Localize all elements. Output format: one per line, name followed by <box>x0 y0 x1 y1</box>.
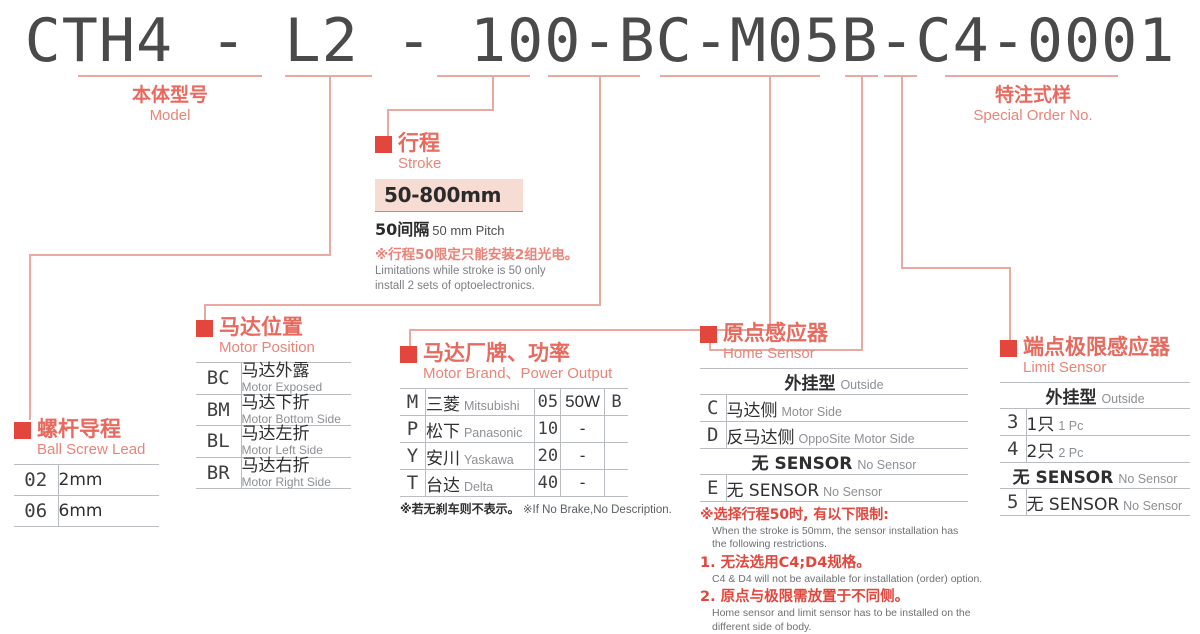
motor-brand-footnote: ※若无刹车则不表示。 ※If No Brake,No Description. <box>400 500 672 517</box>
cell-desc: 2mm <box>58 465 159 496</box>
cell-brake: B <box>604 389 628 416</box>
group-motor-position-cn: 马达位置 <box>219 316 303 338</box>
group-home-sensor: 原点感应器 Home Sensor 外挂型Outside C 马达侧Motor … <box>700 322 1030 634</box>
table-row[interactable]: BR 马达右折 Motor Right Side <box>196 457 351 489</box>
table-row[interactable]: 06 6mm <box>14 496 159 527</box>
group-ball-screw-lead-cn: 螺杆导程 <box>37 418 121 440</box>
table-home-sensor: 外挂型Outside C 马达侧Motor Side D 反马达侧OppoSit… <box>700 368 968 502</box>
cell-code: 3 <box>1000 409 1026 436</box>
cell-code: P <box>400 416 425 443</box>
banner-outside-cn: 外挂型 <box>784 374 835 394</box>
warning-item1-en: C4 & D4 will not be available for instal… <box>712 573 1030 587</box>
cell-desc: 马达左折 Motor Left Side <box>241 426 351 458</box>
group-home-sensor-en: Home Sensor <box>723 345 1030 363</box>
cell-desc: 马达下折 Motor Bottom Side <box>241 394 351 426</box>
cell-code: T <box>400 470 425 497</box>
table-banner-row: 无 SENSORNo Sensor <box>700 449 968 475</box>
cell-code: Y <box>400 443 425 470</box>
table-row[interactable]: BM 马达下折 Motor Bottom Side <box>196 394 351 426</box>
stroke-note-en-2: install 2 sets of optoelectronics. <box>375 279 578 293</box>
cell-power: 50W <box>561 389 605 416</box>
group-ball-screw-lead-en: Ball Screw Lead <box>37 441 159 459</box>
table-motor-brand: M 三菱Mitsubishi 05 50W B P 松下Panasonic 10… <box>400 388 628 497</box>
group-motor-brand-heading: 马达厂牌、功率 <box>400 342 672 364</box>
home-sensor-warning: ※选择行程50时, 有以下限制: When the stroke is 50mm… <box>700 507 1030 634</box>
table-row[interactable]: E 无 SENSORNo Sensor <box>700 475 968 502</box>
bullet-square-icon <box>375 136 392 153</box>
cell-power-code: 05 <box>535 389 561 416</box>
cell-code: BR <box>196 457 241 489</box>
table-ball-screw-lead: 02 2mm 06 6mm <box>14 464 159 527</box>
cell-desc: 马达侧Motor Side <box>726 395 968 422</box>
table-row[interactable]: M 三菱Mitsubishi 05 50W B <box>400 389 628 416</box>
cell-code: BC <box>196 363 241 395</box>
group-limit-sensor-en: Limit Sensor <box>1023 359 1190 377</box>
banner-outside-en: Outside <box>840 378 883 392</box>
cell-code: 5 <box>1000 489 1026 516</box>
cell-power: - <box>561 416 605 443</box>
cell-desc: 马达外露 Motor Exposed <box>241 363 351 395</box>
stroke-pitch-en: 50 mm Pitch <box>432 223 504 238</box>
cell-power-code: 40 <box>535 470 561 497</box>
group-motor-brand-cn: 马达厂牌、功率 <box>423 342 570 364</box>
label-special-order: 特注式样 Special Order No. <box>943 84 1123 125</box>
cell-brand: 三菱Mitsubishi <box>425 389 535 416</box>
banner-outside: 外挂型Outside <box>700 369 968 395</box>
group-stroke-heading: 行程 <box>375 132 578 154</box>
banner-outside: 外挂型Outside <box>1000 383 1190 409</box>
warning-item2-en-1: Home sensor and limit sensor has to be i… <box>712 607 1030 621</box>
banner-no-sensor-en: No Sensor <box>857 458 916 472</box>
label-model-en: Model <box>80 107 260 125</box>
table-banner-row: 外挂型Outside <box>700 369 968 395</box>
table-banner-row: 无 SENSORNo Sensor <box>1000 463 1190 489</box>
table-row[interactable]: 4 2只2 Pc <box>1000 436 1190 463</box>
banner-no-sensor-cn: 无 SENSOR <box>752 454 853 474</box>
cell-desc: 2只2 Pc <box>1026 436 1190 463</box>
table-row[interactable]: D 反马达侧OppoSite Motor Side <box>700 422 968 449</box>
cell-code: 06 <box>14 496 58 527</box>
cell-power: - <box>561 470 605 497</box>
bullet-square-icon <box>196 320 213 337</box>
warning-item1-cn: 1. 无法选用C4;D4规格。 <box>700 554 1030 573</box>
table-row[interactable]: 3 1只1 Pc <box>1000 409 1190 436</box>
label-model: 本体型号 Model <box>80 84 260 125</box>
group-stroke: 行程 Stroke 50-800mm 50间隔50 mm Pitch ※行程50… <box>375 132 578 294</box>
cell-desc: 6mm <box>58 496 159 527</box>
label-special-order-cn: 特注式样 <box>943 84 1123 107</box>
table-row[interactable]: BL 马达左折 Motor Left Side <box>196 426 351 458</box>
warning-item2-en-2: different side of body. <box>712 621 1030 634</box>
table-row[interactable]: Y 安川Yaskawa 20 - <box>400 443 628 470</box>
group-limit-sensor: 端点极限感应器 Limit Sensor 外挂型Outside 3 1只1 Pc… <box>1000 336 1190 516</box>
group-home-sensor-heading: 原点感应器 <box>700 322 1030 344</box>
cell-brake <box>604 416 628 443</box>
group-limit-sensor-cn: 端点极限感应器 <box>1023 336 1170 358</box>
banner-no-sensor-cn: 无 SENSOR <box>1013 468 1114 488</box>
banner-no-sensor: 无 SENSORNo Sensor <box>1000 463 1190 489</box>
group-motor-brand-en: Motor Brand、Power Output <box>423 365 672 383</box>
warning-item2-cn: 2. 原点与极限需放置于不同侧。 <box>700 588 1030 607</box>
stroke-note-en-1: Limitations while stroke is 50 only <box>375 264 578 278</box>
banner-outside-en: Outside <box>1101 392 1144 406</box>
cell-brand: 台达Delta <box>425 470 535 497</box>
cell-desc: 反马达侧OppoSite Motor Side <box>726 422 968 449</box>
cell-power: - <box>561 443 605 470</box>
stroke-pitch-cn: 50间隔 <box>375 220 429 239</box>
bullet-square-icon <box>1000 340 1017 357</box>
table-motor-position: BC 马达外露 Motor Exposed BM 马达下折 Motor Bott… <box>196 362 351 489</box>
stroke-note-cn: ※行程50限定只能安装2组光电。 <box>375 243 578 263</box>
stroke-pitch: 50间隔50 mm Pitch <box>375 216 578 240</box>
cell-code: E <box>700 475 726 502</box>
cell-code: 02 <box>14 465 58 496</box>
cell-brand: 松下Panasonic <box>425 416 535 443</box>
table-limit-sensor: 外挂型Outside 3 1只1 Pc 4 2只2 Pc 无 SENSORNo … <box>1000 382 1190 516</box>
group-motor-position-heading: 马达位置 <box>196 316 351 338</box>
table-banner-row: 外挂型Outside <box>1000 383 1190 409</box>
label-model-cn: 本体型号 <box>80 84 260 107</box>
cell-code: D <box>700 422 726 449</box>
cell-code: 4 <box>1000 436 1026 463</box>
cell-desc: 马达右折 Motor Right Side <box>241 457 351 489</box>
group-ball-screw-lead: 螺杆导程 Ball Screw Lead 02 2mm 06 6mm <box>14 418 159 527</box>
warning-head-en-2: the following restrictions. <box>712 538 1030 552</box>
cell-desc: 无 SENSORNo Sensor <box>1026 489 1190 516</box>
cell-power-code: 20 <box>535 443 561 470</box>
table-row[interactable]: P 松下Panasonic 10 - <box>400 416 628 443</box>
group-home-sensor-cn: 原点感应器 <box>723 322 828 344</box>
group-limit-sensor-heading: 端点极限感应器 <box>1000 336 1190 358</box>
warning-head-en-1: When the stroke is 50mm, the sensor inst… <box>712 525 1030 539</box>
product-code-diagram: CTH4 - L2 - 100-BC-M05B-C4-0001 <box>0 0 1200 601</box>
banner-outside-cn: 外挂型 <box>1045 388 1096 408</box>
bullet-square-icon <box>400 346 417 363</box>
banner-no-sensor-en: No Sensor <box>1118 472 1177 486</box>
cell-code: C <box>700 395 726 422</box>
cell-brake <box>604 470 628 497</box>
cell-power-code: 10 <box>535 416 561 443</box>
table-row[interactable]: T 台达Delta 40 - <box>400 470 628 497</box>
cell-brand: 安川Yaskawa <box>425 443 535 470</box>
cell-code: M <box>400 389 425 416</box>
table-row[interactable]: 5 无 SENSORNo Sensor <box>1000 489 1190 516</box>
motor-brand-footnote-en: ※If No Brake,No Description. <box>523 504 672 516</box>
stroke-value: 50-800mm <box>375 179 523 212</box>
bullet-square-icon <box>14 422 31 439</box>
group-stroke-cn: 行程 <box>398 132 440 154</box>
model-code: CTH4 - L2 - 100-BC-M05B-C4-0001 <box>0 6 1200 76</box>
table-row[interactable]: C 马达侧Motor Side <box>700 395 968 422</box>
banner-no-sensor: 无 SENSORNo Sensor <box>700 449 968 475</box>
cell-brake <box>604 443 628 470</box>
bullet-square-icon <box>700 326 717 343</box>
group-motor-brand: 马达厂牌、功率 Motor Brand、Power Output M 三菱Mit… <box>400 342 672 517</box>
cell-desc: 无 SENSORNo Sensor <box>726 475 968 502</box>
warning-head-cn: ※选择行程50时, 有以下限制: <box>700 507 1030 525</box>
cell-code: BL <box>196 426 241 458</box>
table-row[interactable]: 02 2mm <box>14 465 159 496</box>
group-stroke-en: Stroke <box>398 155 578 173</box>
group-motor-position: 马达位置 Motor Position BC 马达外露 Motor Expose… <box>196 316 351 489</box>
motor-brand-footnote-cn: ※若无刹车则不表示。 <box>400 502 520 516</box>
group-motor-position-en: Motor Position <box>219 339 351 357</box>
cell-code: BM <box>196 394 241 426</box>
label-special-order-en: Special Order No. <box>943 107 1123 125</box>
cell-desc: 1只1 Pc <box>1026 409 1190 436</box>
group-ball-screw-lead-heading: 螺杆导程 <box>14 418 159 440</box>
table-row[interactable]: BC 马达外露 Motor Exposed <box>196 363 351 395</box>
